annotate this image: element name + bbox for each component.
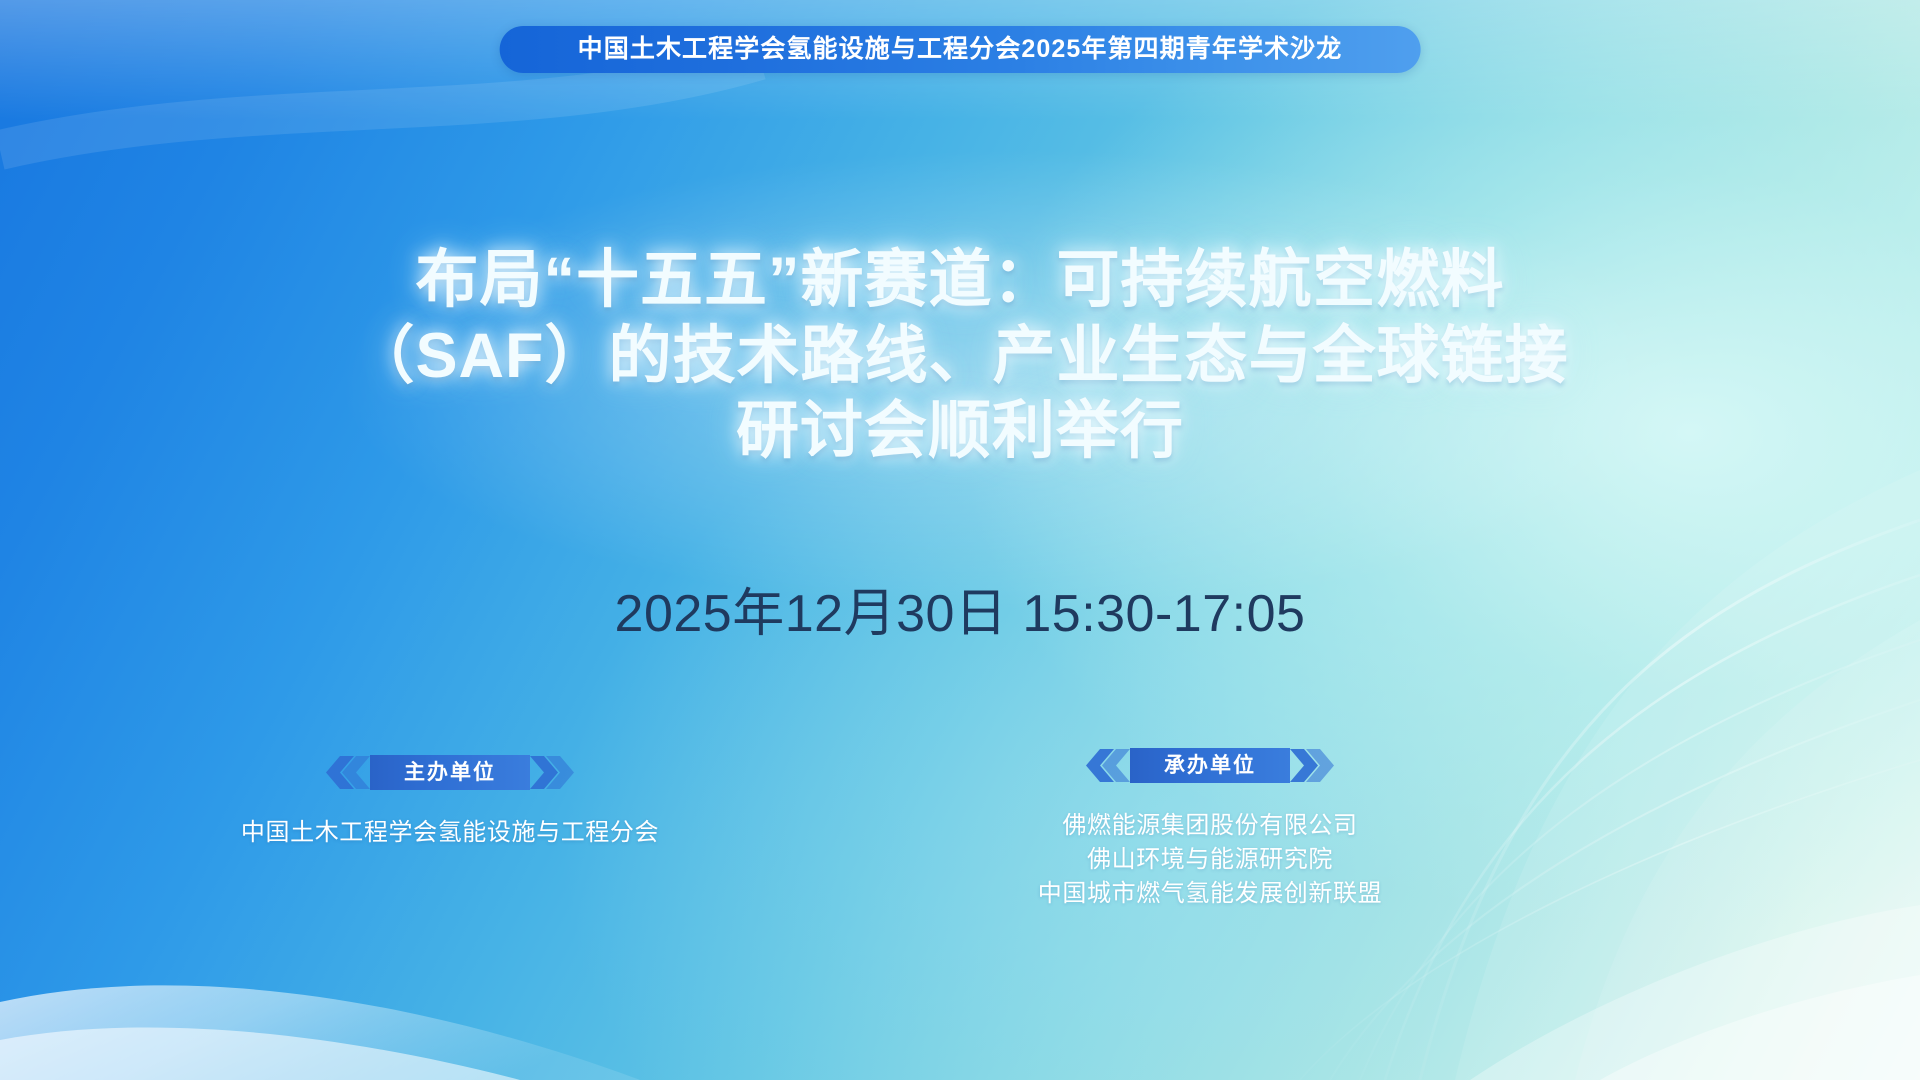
- host-tag: 主办单位: [320, 755, 580, 790]
- cohost-tag: 承办单位: [1080, 748, 1340, 783]
- event-datetime: 2025年12月30日 15:30-17:05: [0, 571, 1920, 646]
- cohost-organizer-name: 中国城市燃气氢能发展创新联盟: [940, 877, 1480, 911]
- host-organizer-block: 主办单位 中国土木工程学会氢能设施与工程分会: [180, 755, 720, 850]
- cohost-organizer-name: 佛山环境与能源研究院: [940, 843, 1480, 877]
- cohost-tag-body: 承办单位: [1130, 748, 1290, 783]
- chevron-right-icon: [528, 755, 580, 790]
- title-line-3: 研讨会顺利举行: [0, 394, 1920, 470]
- background-decoration: [0, 0, 1920, 1080]
- title-line-2: （SAF）的技术路线、产业生态与全球链接: [0, 319, 1920, 395]
- host-organizer-name: 中国土木工程学会氢能设施与工程分会: [180, 816, 720, 850]
- event-poster: 中国土木工程学会氢能设施与工程分会2025年第四期青年学术沙龙 布局“十五五”新…: [0, 0, 1920, 1080]
- cohost-organizer-names: 佛燃能源集团股份有限公司 佛山环境与能源研究院 中国城市燃气氢能发展创新联盟: [940, 809, 1480, 911]
- cohost-organizer-name: 佛燃能源集团股份有限公司: [940, 809, 1480, 843]
- chevron-left-icon: [1080, 748, 1132, 783]
- host-organizer-names: 中国土木工程学会氢能设施与工程分会: [180, 816, 720, 850]
- host-tag-label: 主办单位: [404, 762, 496, 783]
- cohost-organizer-block: 承办单位 佛燃能源集团股份有限公司 佛山环境与能源研究院 中国城市燃气氢能发展创…: [940, 748, 1480, 911]
- cohost-tag-label: 承办单位: [1164, 755, 1256, 776]
- header-banner-text: 中国土木工程学会氢能设施与工程分会2025年第四期青年学术沙龙: [578, 37, 1343, 62]
- host-tag-body: 主办单位: [370, 755, 530, 790]
- chevron-right-icon: [1288, 748, 1340, 783]
- page-title: 布局“十五五”新赛道：可持续航空燃料 （SAF）的技术路线、产业生态与全球链接 …: [0, 243, 1920, 470]
- chevron-left-icon: [320, 755, 372, 790]
- title-line-1: 布局“十五五”新赛道：可持续航空燃料: [0, 243, 1920, 319]
- header-banner: 中国土木工程学会氢能设施与工程分会2025年第四期青年学术沙龙: [500, 26, 1421, 73]
